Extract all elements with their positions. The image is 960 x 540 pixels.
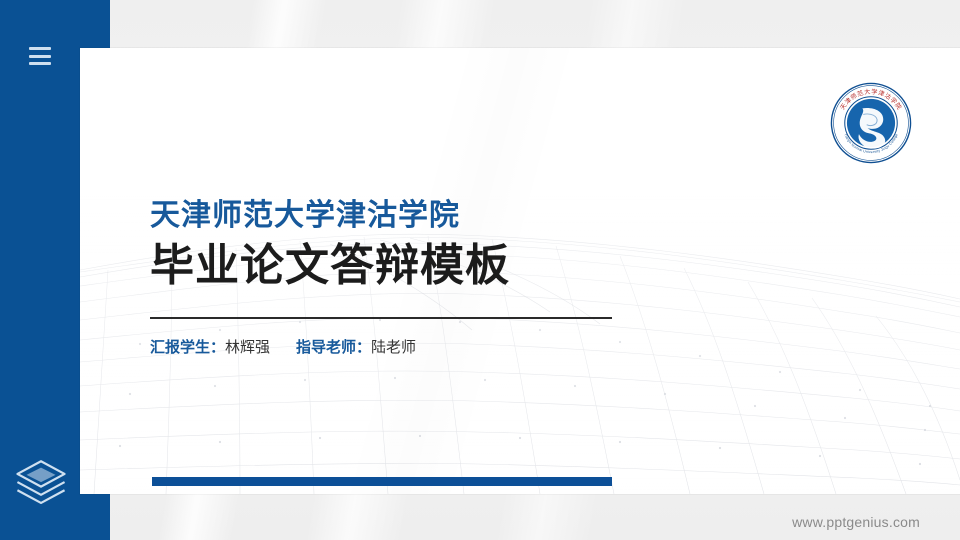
advisor-value: 陆老师 [371, 339, 416, 356]
university-name: 天津师范大学津沽学院 [150, 198, 612, 233]
hamburger-icon[interactable] [29, 47, 51, 65]
page-title: 毕业论文答辩模板 [150, 239, 612, 293]
watermark-url: www.pptgenius.com [792, 514, 920, 530]
hamburger-line-1 [29, 47, 51, 50]
hamburger-line-3 [29, 62, 51, 65]
slide-root: 天津师范大学津沽学院 Tianjin Normal University Jin… [0, 0, 960, 540]
student-label: 汇报学生： [150, 339, 225, 356]
student-value: 林辉强 [225, 339, 270, 356]
byline: 汇报学生：林辉强指导老师：陆老师 [150, 337, 612, 358]
title-block: 天津师范大学津沽学院 毕业论文答辩模板 汇报学生：林辉强指导老师：陆老师 [150, 198, 612, 358]
accent-bar [152, 477, 612, 486]
title-divider [150, 317, 612, 319]
layers-icon[interactable] [12, 454, 70, 512]
hamburger-line-2 [29, 55, 51, 58]
advisor-label: 指导老师： [296, 339, 371, 356]
slide-card: 天津师范大学津沽学院 Tianjin Normal University Jin… [80, 48, 960, 494]
university-seal-logo: 天津师范大学津沽学院 Tianjin Normal University Jin… [828, 80, 914, 166]
